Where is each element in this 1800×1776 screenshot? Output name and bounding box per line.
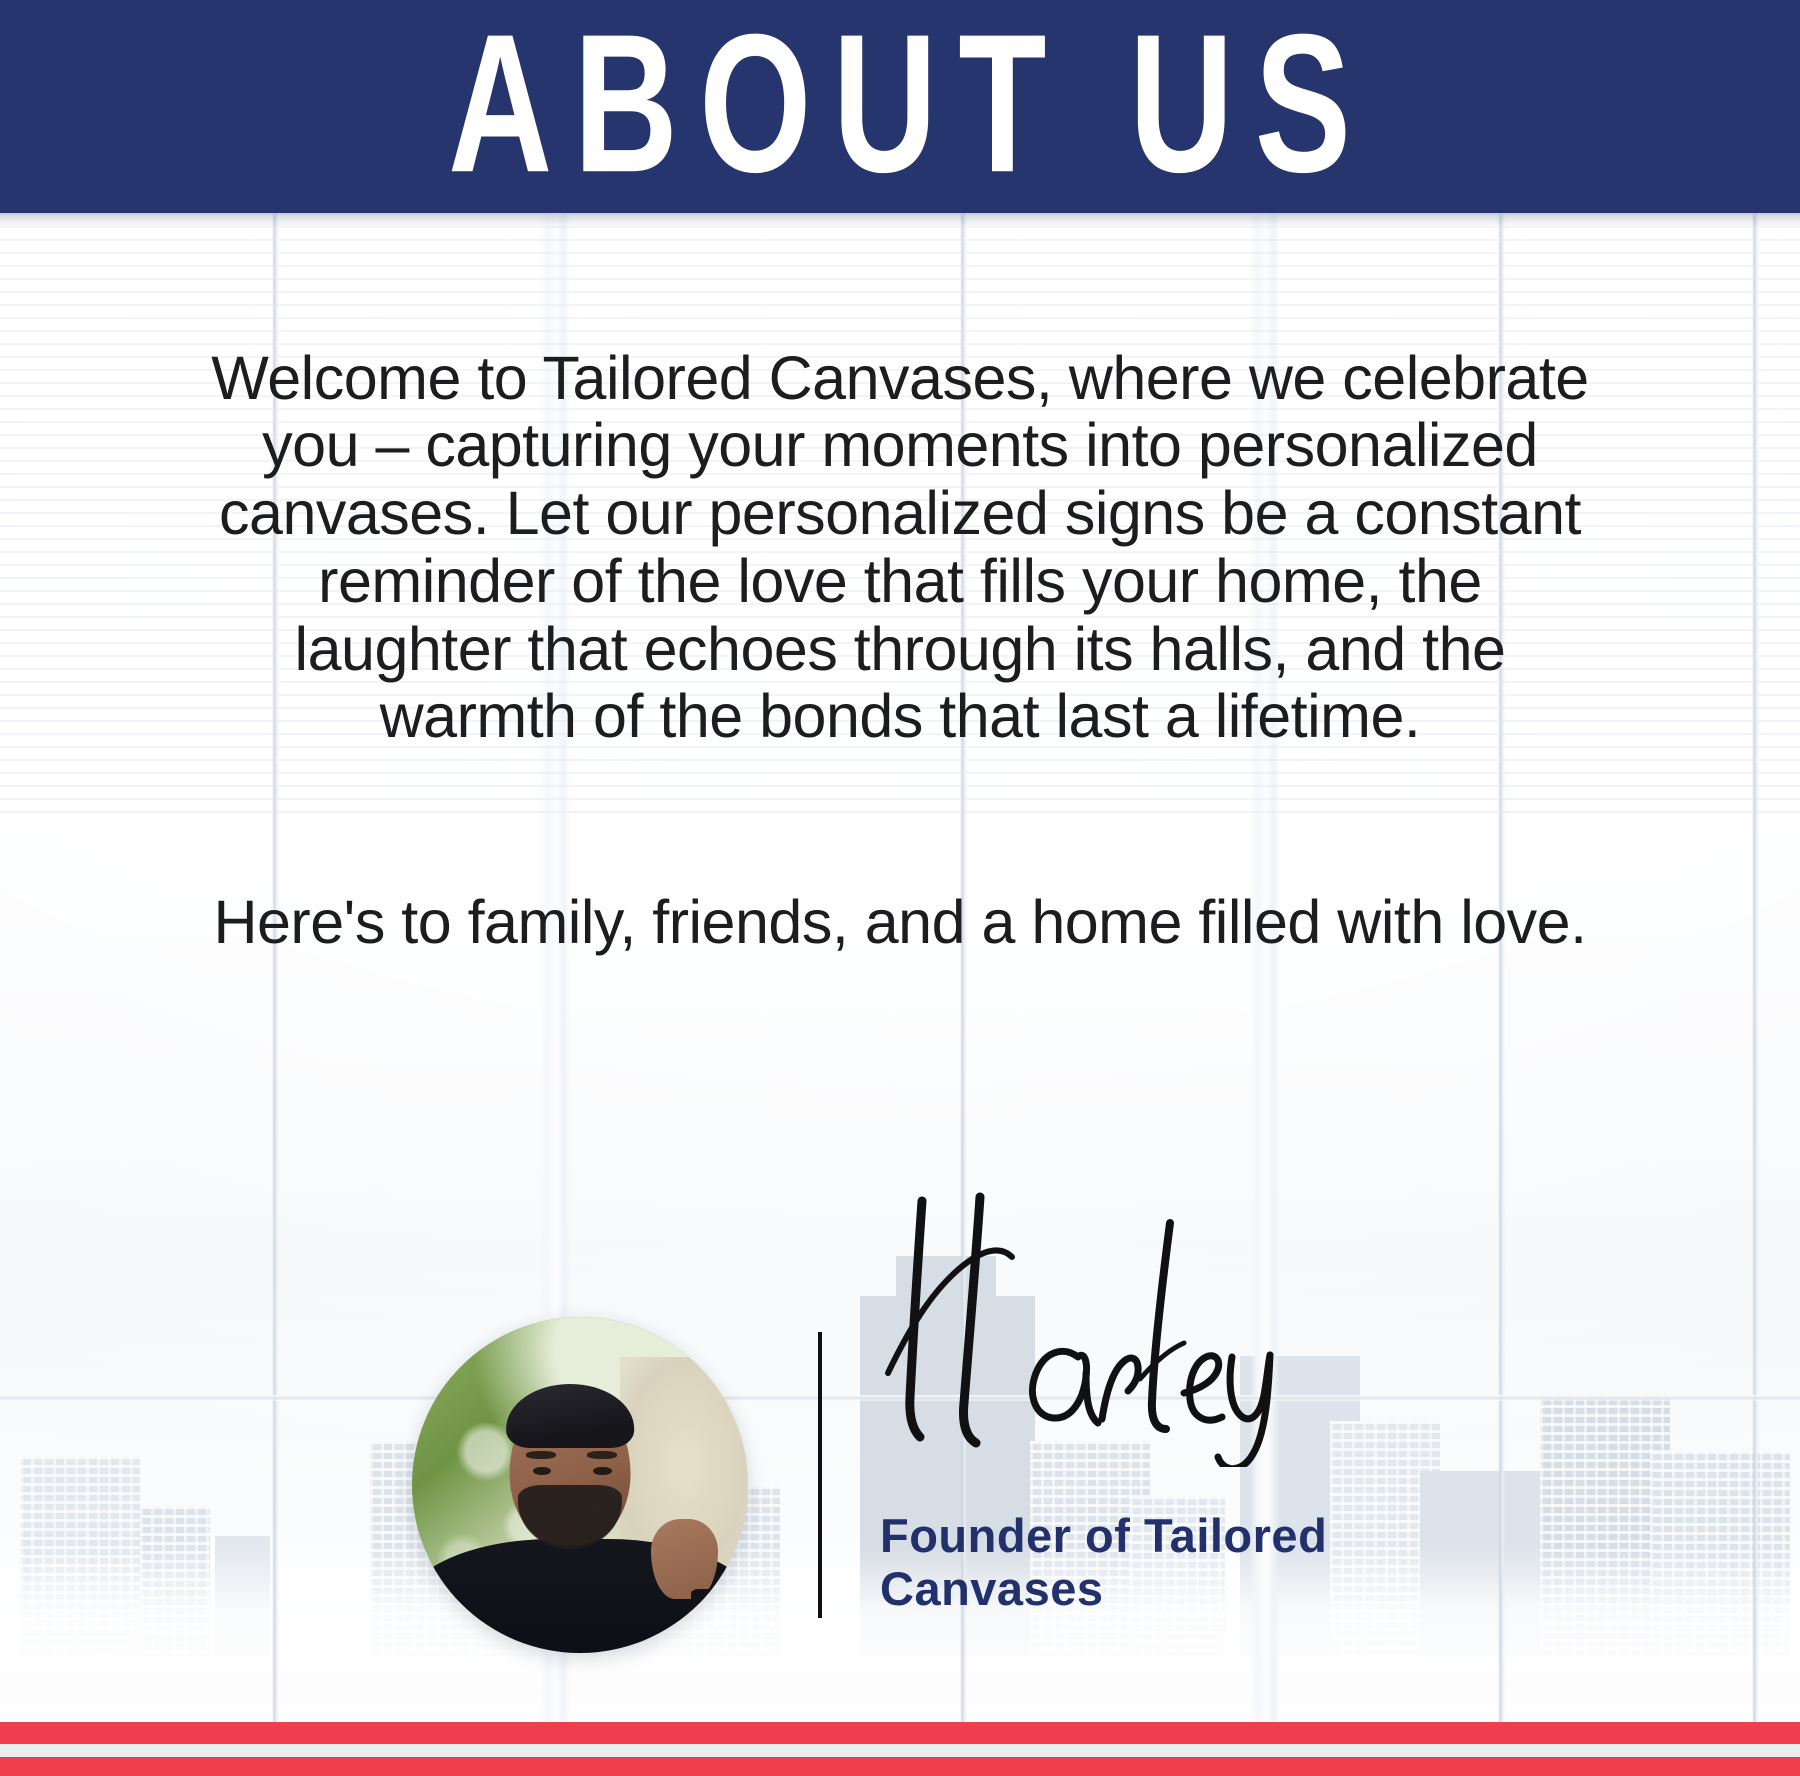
portrait-watch bbox=[691, 1589, 735, 1613]
header-shadow bbox=[0, 213, 1800, 227]
signature-harley bbox=[840, 1167, 1360, 1467]
portrait-hand bbox=[651, 1519, 718, 1600]
portrait-eye-right bbox=[593, 1467, 611, 1476]
footer-rule-bottom bbox=[0, 1757, 1800, 1776]
page-title: ABOUT US bbox=[427, 5, 1373, 202]
founder-title: Founder of Tailored Canvases bbox=[880, 1510, 1440, 1615]
portrait-eyebrow-right bbox=[587, 1451, 617, 1459]
body-paragraph-1: Welcome to Tailored Canvases, where we c… bbox=[210, 345, 1590, 751]
footer-rule-top bbox=[0, 1722, 1800, 1744]
header-banner: ABOUT US bbox=[0, 0, 1800, 213]
about-us-body: Welcome to Tailored Canvases, where we c… bbox=[210, 277, 1590, 1024]
footer-rule-gap bbox=[0, 1744, 1800, 1757]
signature-divider bbox=[818, 1332, 822, 1618]
about-us-graphic: ABOUT US Welcome to Tailored Canvases, w… bbox=[0, 0, 1800, 1776]
founder-portrait bbox=[412, 1317, 748, 1653]
body-paragraph-2: Here's to family, friends, and a home fi… bbox=[210, 889, 1590, 957]
